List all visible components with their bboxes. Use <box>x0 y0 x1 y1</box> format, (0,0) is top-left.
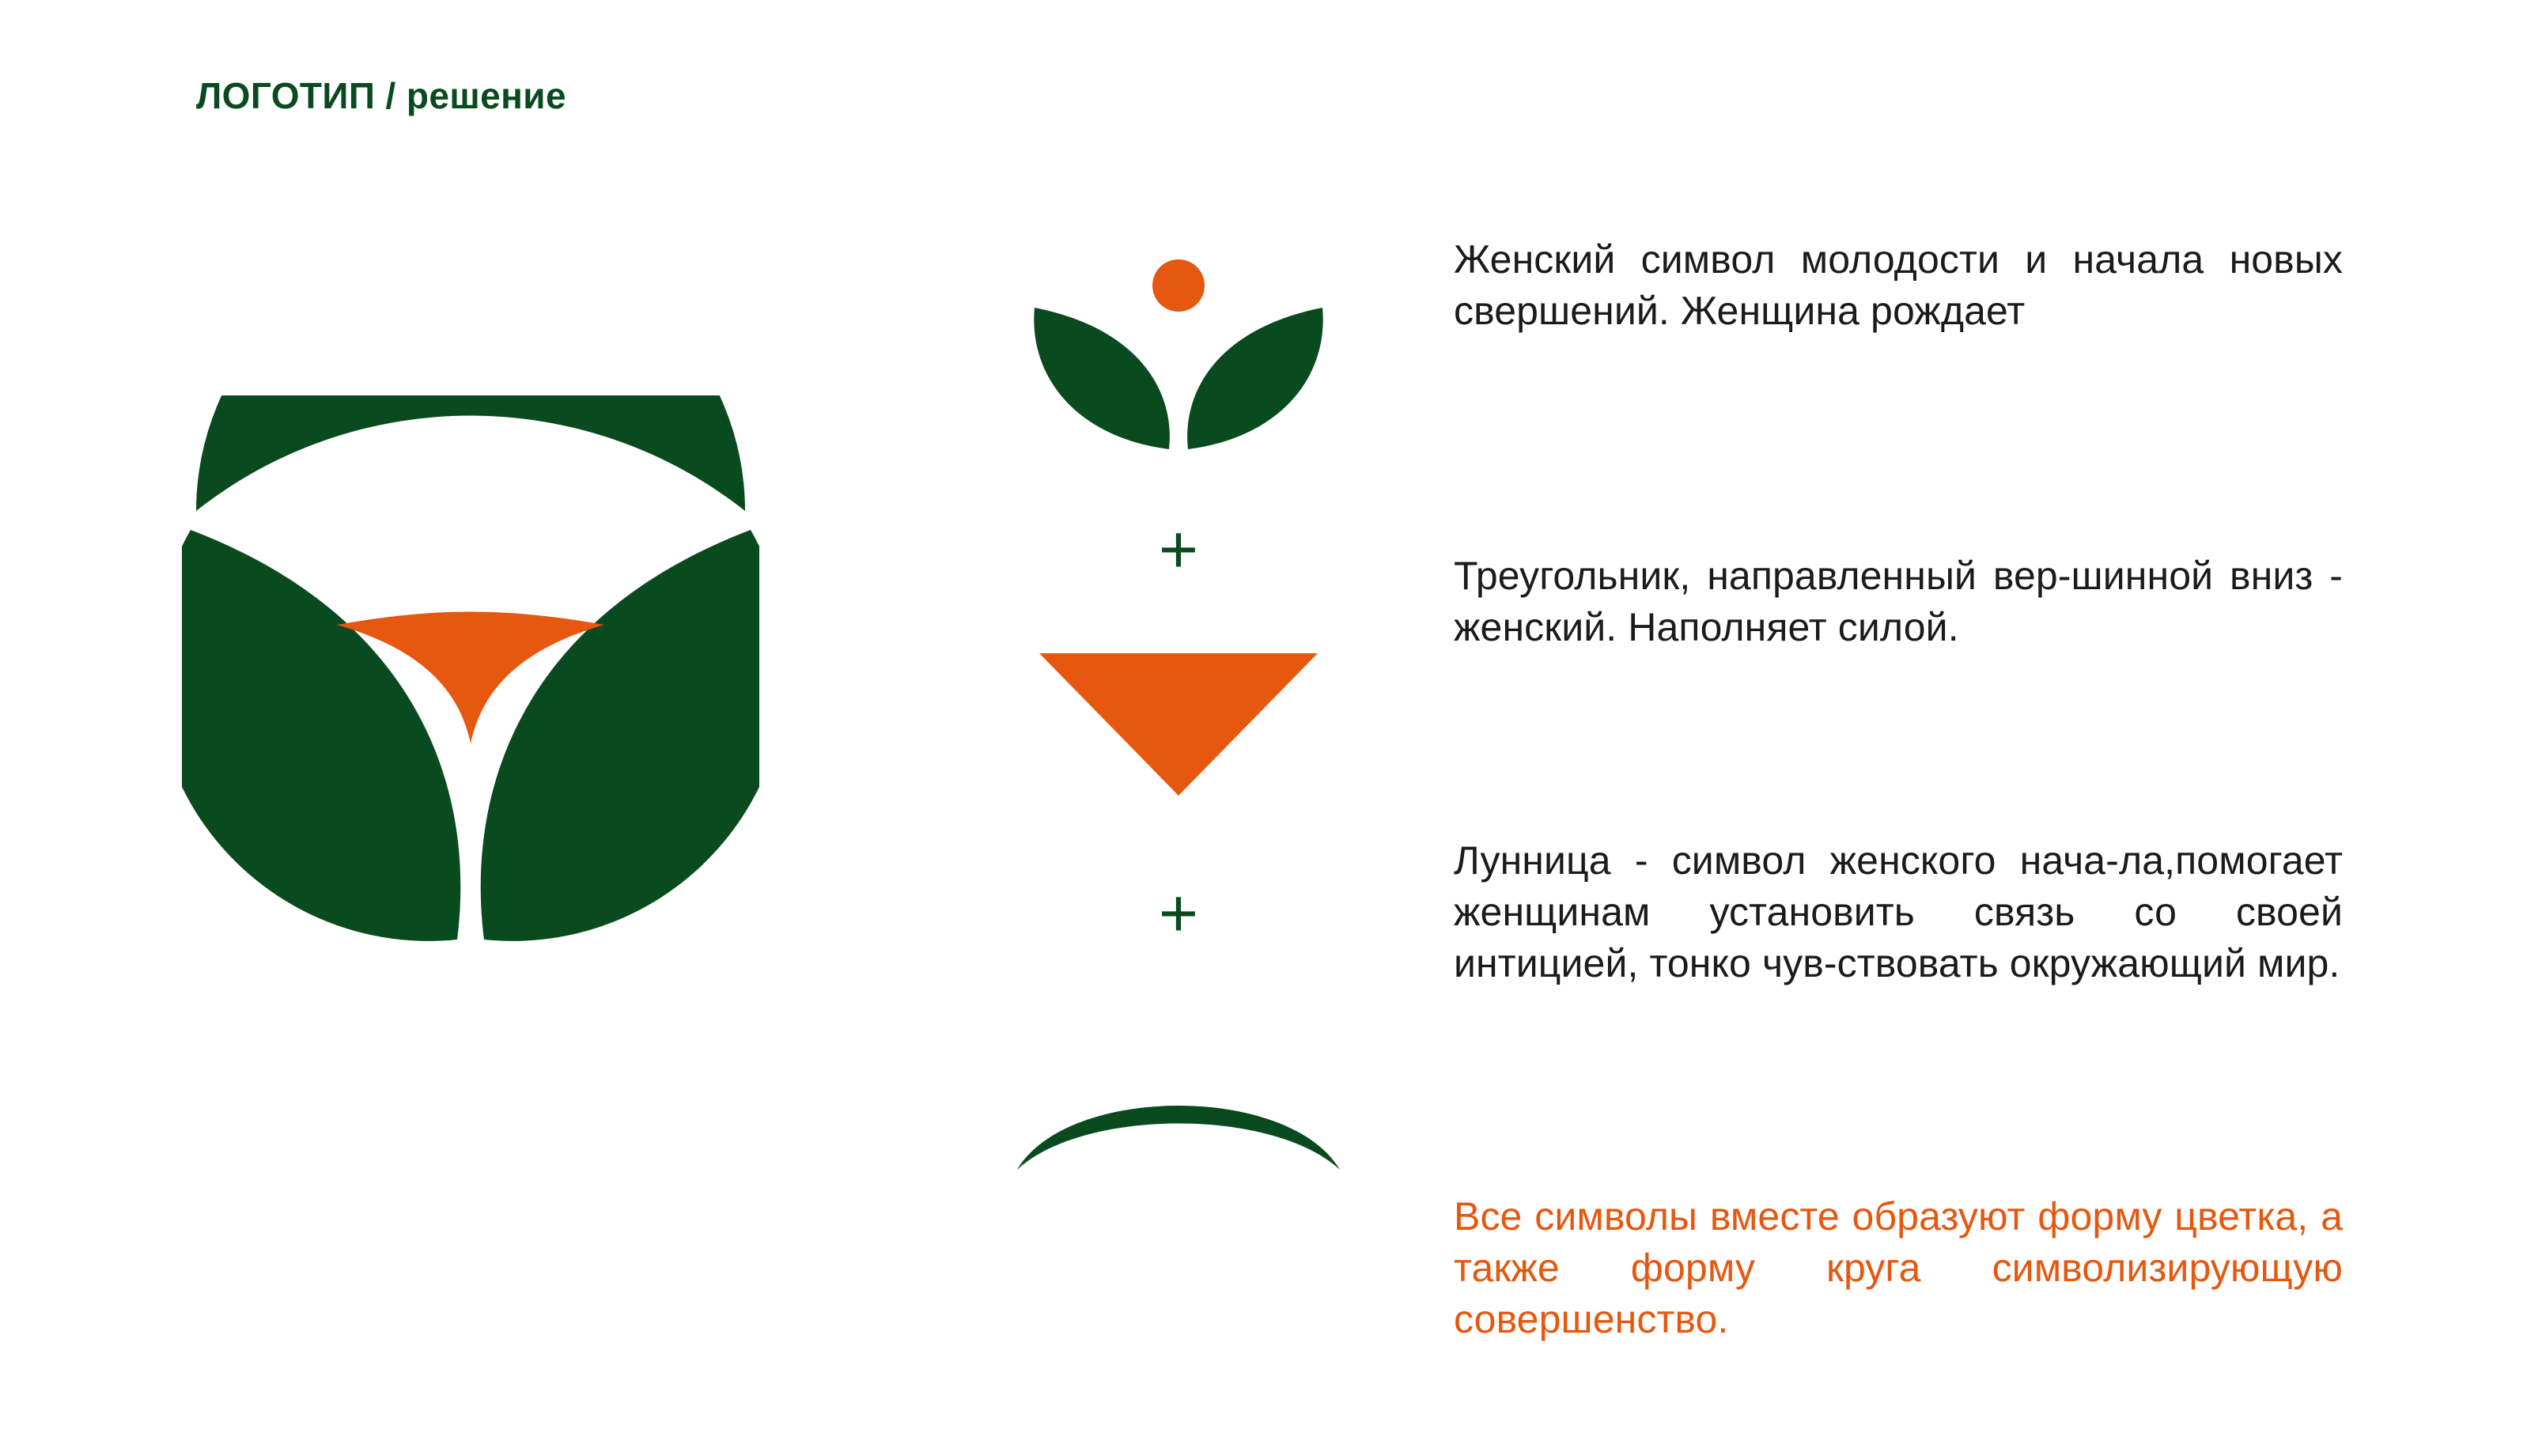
crescent-description: Лунница - символ женского нача-ла,помога… <box>1454 835 2343 989</box>
main-logo-mark <box>182 395 759 957</box>
symbol-triangle <box>973 633 1384 815</box>
symbol-crescent <box>973 1044 1384 1202</box>
symbol-sprout <box>973 253 1384 459</box>
downward-triangle-icon <box>1036 649 1321 799</box>
sprout-dot-icon <box>1152 259 1205 312</box>
logo-lunnitsa-arc <box>196 395 745 511</box>
sprout-right-leaf-icon <box>1187 308 1323 449</box>
symbol-plus-second: + <box>973 862 1384 965</box>
symbol-plus-first: + <box>973 498 1384 601</box>
summary-description: Все символы вместе образуют форму цветка… <box>1454 1191 2343 1345</box>
triangle-shape <box>1039 653 1318 796</box>
logo-left-leaf <box>182 530 460 941</box>
triangle-description: Треугольник, направленный вер-шинной вни… <box>1454 550 2343 653</box>
crescent-shape <box>1017 1106 1340 1170</box>
plus-icon: + <box>1159 516 1198 584</box>
sprout-description: Женский символ молодости и начала новых … <box>1454 234 2343 337</box>
sprout-icon <box>1020 257 1337 455</box>
logo-svg <box>182 395 759 957</box>
plus-icon: + <box>1159 879 1198 947</box>
page-title: ЛОГОТИП / решение <box>196 76 566 116</box>
logo-right-leaf <box>481 530 759 941</box>
symbol-breakdown-column: + + <box>973 237 1384 1202</box>
lunnitsa-crescent-icon <box>1012 1072 1345 1174</box>
sprout-left-leaf-icon <box>1034 308 1170 449</box>
